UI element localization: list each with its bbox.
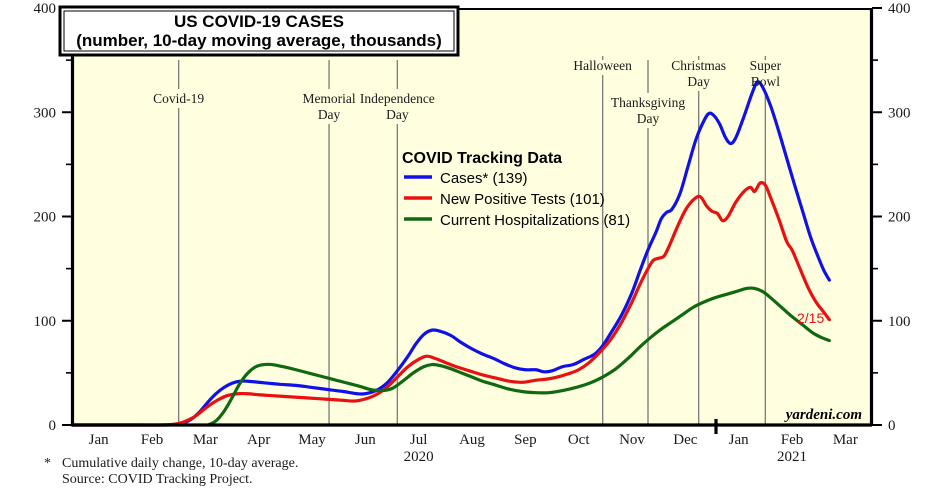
x-axis-month-label-11: Dec (673, 432, 697, 448)
x-axis-month-label-0: Jan (89, 432, 109, 448)
x-axis-month-label-5: Jun (355, 432, 376, 448)
x-axis-month-label-12: Jan (729, 432, 749, 448)
event-label-memorial-day: Day (318, 107, 341, 122)
x-axis-month-label-6: Jul (410, 432, 428, 448)
event-label-independence-day: Day (386, 107, 409, 122)
event-label-halloween: Halloween (573, 58, 632, 73)
y-axis-label-right-0: 0 (888, 418, 896, 434)
footnote-line-2: Source: COVID Tracking Project. (62, 472, 253, 487)
chart-title-line2: (number, 10-day moving average, thousand… (76, 31, 442, 50)
covid-cases-line-chart: 00100100200200300300400400 JanFebMarAprM… (0, 0, 936, 494)
x-axis-month-label-8: Sep (514, 432, 537, 448)
x-axis-month-label-3: Apr (247, 432, 270, 448)
y-axis-label-right-100: 100 (888, 314, 911, 330)
y-axis-label-left-300: 300 (34, 105, 57, 121)
event-label-covid-19: Covid-19 (153, 91, 204, 106)
x-axis-month-label-1: Feb (141, 432, 164, 448)
x-axis-year-label-2020: 2020 (404, 449, 434, 465)
x-axis-month-label-7: Aug (459, 432, 485, 448)
event-label-thanksgiving-day: Thanksgiving (611, 95, 685, 110)
chart-title-box: US COVID-19 CASES (number, 10-day moving… (60, 7, 458, 55)
y-axis-label-right-200: 200 (888, 210, 911, 226)
y-axis-label-left-0: 0 (49, 418, 57, 434)
y-axis-label-left-100: 100 (34, 314, 57, 330)
footnote-marker: * (44, 456, 51, 471)
event-label-independence-day: Independence (360, 91, 435, 106)
legend-label-hospitalizations: Current Hospitalizations (81) (440, 212, 630, 229)
chart-container: 00100100200200300300400400 JanFebMarAprM… (0, 0, 936, 494)
event-label-christmas-day: Christmas (671, 58, 726, 73)
event-label-thanksgiving-day: Day (637, 111, 660, 126)
yardeni-watermark: yardeni.com (784, 407, 862, 423)
x-axis-month-label-13: Feb (781, 432, 804, 448)
x-axis-year-label-2021: 2021 (777, 449, 807, 465)
event-label-super-bowl: Bowl (751, 74, 781, 89)
y-axis-label-right-300: 300 (888, 105, 911, 121)
event-label-memorial-day: Memorial (302, 91, 355, 106)
event-label-super-bowl: Super (750, 58, 782, 73)
x-axis-month-label-9: Oct (568, 432, 590, 448)
footnote-line-1: Cumulative daily change, 10-day average. (62, 456, 298, 471)
last-value-label: 2/15 (797, 310, 824, 326)
legend-title: COVID Tracking Data (402, 150, 562, 167)
x-axis-month-label-10: Nov (619, 432, 645, 448)
x-axis-month-label-2: Mar (193, 432, 218, 448)
event-label-christmas-day: Day (687, 74, 710, 89)
y-axis-label-left-400: 400 (34, 1, 57, 17)
legend-label-cases: Cases* (139) (440, 170, 528, 187)
x-axis-month-label-4: May (298, 432, 326, 448)
chart-title-line1: US COVID-19 CASES (174, 12, 344, 31)
legend-label-new-positive-tests: New Positive Tests (101) (440, 191, 605, 208)
y-axis-label-left-200: 200 (34, 210, 57, 226)
x-axis-month-label-14: Mar (833, 432, 858, 448)
y-axis-label-right-400: 400 (888, 1, 911, 17)
